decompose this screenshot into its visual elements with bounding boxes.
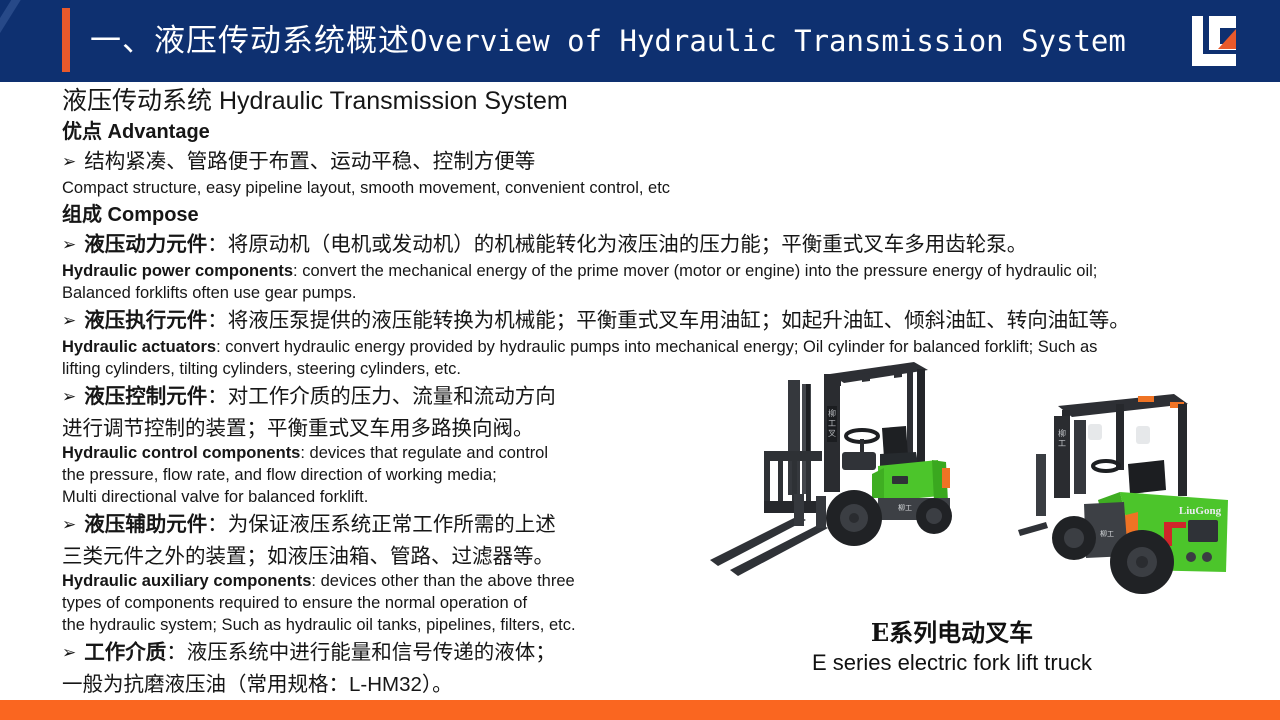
compose-item-1-en-keyword: Hydraulic power components (62, 262, 293, 280)
page-title: 一、液压传动系统概述Overview of Hydraulic Transmis… (90, 0, 1126, 82)
advantage-bullet-en: Compact structure, easy pipeline layout,… (62, 177, 1222, 199)
forklift-photo-rear-right: 柳 工 LiuGong 柳工 (988, 380, 1232, 606)
compose-item-2-cn-keyword: 液压执行元件 (84, 309, 207, 332)
compose-item-1-en-rest: : convert the mechanical energy of the p… (293, 262, 1097, 280)
compose-item-1-cn: ➢液压动力元件：将原动机（电机或发动机）的机械能转化为液压油的压力能；平衡重式叉… (62, 231, 1222, 260)
body-heading: 液压传动系统 Hydraulic Transmission System (62, 86, 1222, 116)
page-title-en: Overview of Hydraulic Transmission Syste… (410, 24, 1126, 58)
slide-header: 一、液压传动系统概述Overview of Hydraulic Transmis… (0, 0, 1280, 82)
forklift-photo-front-left: 柳 工 叉 (702, 356, 1002, 601)
figure-caption: E系列电动叉车 E series electric fork lift truc… (672, 618, 1232, 678)
compose-item-2-en-keyword: Hydraulic actuators (62, 338, 216, 356)
compose-item-1-cn-keyword: 液压动力元件 (84, 233, 207, 256)
bullet-arrow-icon: ➢ (62, 235, 76, 255)
svg-text:工: 工 (828, 419, 836, 428)
compose-item-1-cn-text: ：将原动机（电机或发动机）的机械能转化为液压油的压力能；平衡重式叉车多用齿轮泵。 (207, 233, 1027, 256)
compose-item-2-cn-text: ：将液压泵提供的液压能转换为机械能；平衡重式叉车用油缸；如起升油缸、倾斜油缸、转… (207, 309, 1130, 332)
advantage-bullet-cn-text: 结构紧凑、管路便于布置、运动平稳、控制方便等 (84, 150, 535, 173)
compose-item-2-en-line-1: Hydraulic actuators: convert hydraulic e… (62, 336, 1222, 358)
svg-text:柳: 柳 (1058, 428, 1066, 438)
body-heading-cn: 液压传动系统 (62, 86, 212, 115)
compose-item-4-en-rest: : devices other than the above three (311, 572, 574, 590)
svg-text:LiuGong: LiuGong (1179, 505, 1222, 517)
compose-item-4-en-keyword: Hydraulic auxiliary components (62, 572, 311, 590)
compose-item-5-cn-text: ：液压系统中进行能量和信号传递的液体； (166, 641, 556, 664)
bullet-arrow-icon: ➢ (62, 311, 76, 331)
svg-text:工: 工 (1058, 439, 1066, 448)
slide-root: 一、液压传动系统概述Overview of Hydraulic Transmis… (0, 0, 1280, 720)
figure-caption-en: E series electric fork lift truck (672, 648, 1232, 678)
bullet-arrow-icon: ➢ (62, 152, 76, 172)
compose-item-4-cn-text: ：为保证液压系统正常工作所需的上述 (207, 513, 556, 536)
compose-item-2-cn: ➢液压执行元件：将液压泵提供的液压能转换为机械能；平衡重式叉车用油缸；如起升油缸… (62, 307, 1222, 336)
liugong-logo-icon (1186, 14, 1242, 68)
section-advantage-label: 优点 Advantage (62, 119, 1222, 145)
compose-item-3-cn-text: ：对工作介质的压力、流量和流动方向 (207, 385, 556, 408)
header-accent-bar (62, 8, 70, 72)
compose-item-5-cn-keyword: 工作介质 (84, 641, 166, 664)
advantage-bullet-cn: ➢结构紧凑、管路便于布置、运动平稳、控制方便等 (62, 148, 1222, 177)
bullet-arrow-icon: ➢ (62, 387, 76, 407)
svg-text:柳: 柳 (828, 408, 836, 418)
figure-images: 柳 工 叉 (672, 356, 1232, 626)
slide-footer-bar (0, 700, 1280, 720)
svg-text:叉: 叉 (828, 429, 836, 438)
bullet-arrow-icon: ➢ (62, 643, 76, 663)
compose-item-3-en-rest: : devices that regulate and control (300, 444, 548, 462)
compose-item-4-cn-keyword: 液压辅助元件 (84, 513, 207, 536)
compose-item-1-en-line-2: Balanced forklifts often use gear pumps. (62, 282, 1222, 304)
compose-item-3-en-keyword: Hydraulic control components (62, 444, 300, 462)
page-title-cn: 一、液压传动系统概述 (90, 23, 410, 59)
bullet-arrow-icon: ➢ (62, 515, 76, 535)
compose-item-2-en-rest: : convert hydraulic energy provided by h… (216, 338, 1097, 356)
body-heading-en: Hydraulic Transmission System (212, 87, 568, 115)
section-compose-label: 组成 Compose (62, 202, 1222, 228)
svg-text:柳工: 柳工 (1100, 529, 1114, 538)
compose-item-3-cn-keyword: 液压控制元件 (84, 385, 207, 408)
figure-caption-cn: E系列电动叉车 (672, 618, 1232, 648)
compose-item-1-en-line-1: Hydraulic power components: convert the … (62, 260, 1222, 282)
svg-text:柳工: 柳工 (898, 503, 912, 512)
